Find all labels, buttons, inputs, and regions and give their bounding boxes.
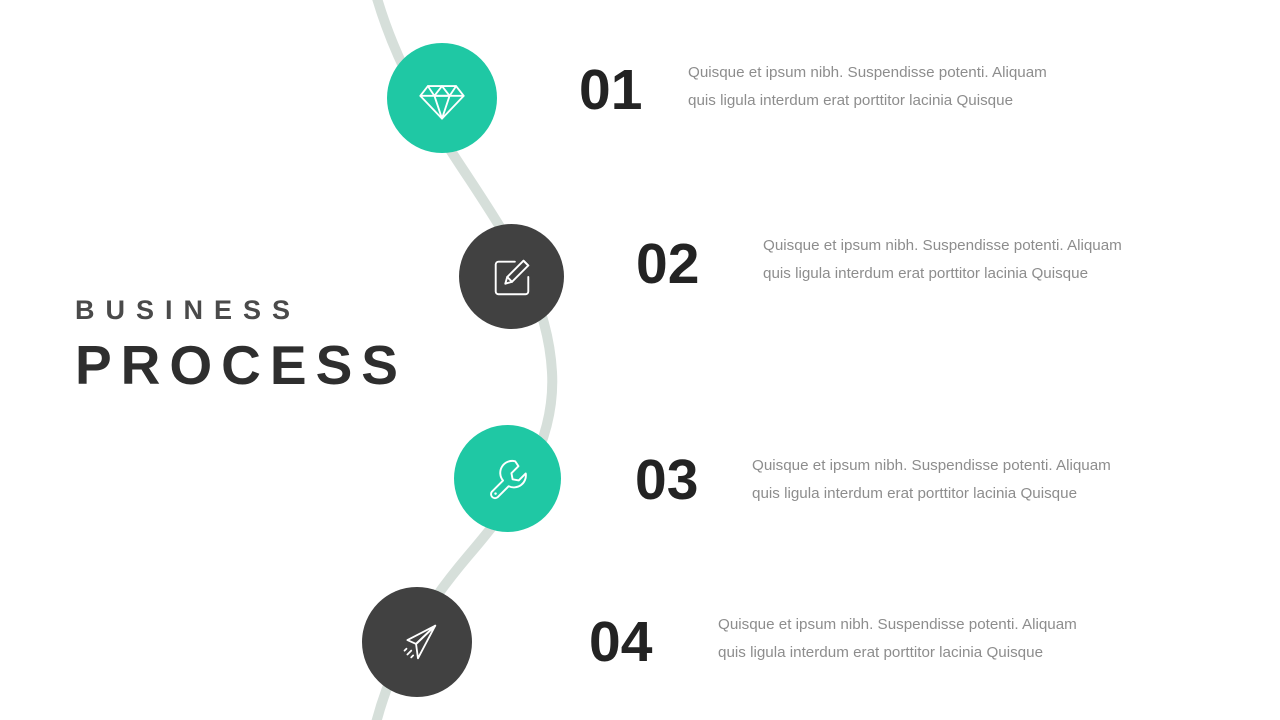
step-description-01: Quisque et ipsum nibh. Suspendisse poten… [688, 59, 1047, 116]
step-description-03-line2: quis ligula interdum erat porttitor laci… [752, 480, 1111, 508]
step-description-02-line2: quis ligula interdum erat porttitor laci… [763, 260, 1122, 288]
step-description-01-line1: Quisque et ipsum nibh. Suspendisse poten… [688, 59, 1047, 87]
wrench-icon [485, 456, 531, 502]
step-circle-01[interactable] [387, 43, 497, 153]
title-line-business: BUSINESS [75, 296, 415, 324]
step-description-04-line2: quis ligula interdum erat porttitor laci… [718, 639, 1077, 667]
step-circle-04[interactable] [362, 587, 472, 697]
step-description-04-line1: Quisque et ipsum nibh. Suspendisse poten… [718, 611, 1077, 639]
business-process-slide: BUSINESS PROCESS 01 Quisque et ipsum nib… [0, 0, 1280, 720]
step-description-03-line1: Quisque et ipsum nibh. Suspendisse poten… [752, 452, 1111, 480]
diamond-icon [416, 72, 468, 124]
step-description-04: Quisque et ipsum nibh. Suspendisse poten… [718, 611, 1077, 668]
step-description-02-line1: Quisque et ipsum nibh. Suspendisse poten… [763, 232, 1122, 260]
step-number-03: 03 [635, 452, 698, 509]
step-number-01: 01 [579, 62, 642, 119]
step-description-03: Quisque et ipsum nibh. Suspendisse poten… [752, 452, 1111, 509]
step-description-02: Quisque et ipsum nibh. Suspendisse poten… [763, 232, 1122, 289]
step-number-04: 04 [589, 614, 652, 671]
paper-plane-send-icon [394, 619, 440, 665]
page-title: BUSINESS PROCESS [75, 296, 415, 393]
step-circle-02[interactable] [459, 224, 564, 329]
edit-pencil-square-icon [489, 254, 535, 300]
title-line-process: PROCESS [75, 338, 415, 393]
step-number-02: 02 [636, 236, 699, 293]
step-circle-03[interactable] [454, 425, 561, 532]
step-description-01-line2: quis ligula interdum erat porttitor laci… [688, 87, 1047, 115]
